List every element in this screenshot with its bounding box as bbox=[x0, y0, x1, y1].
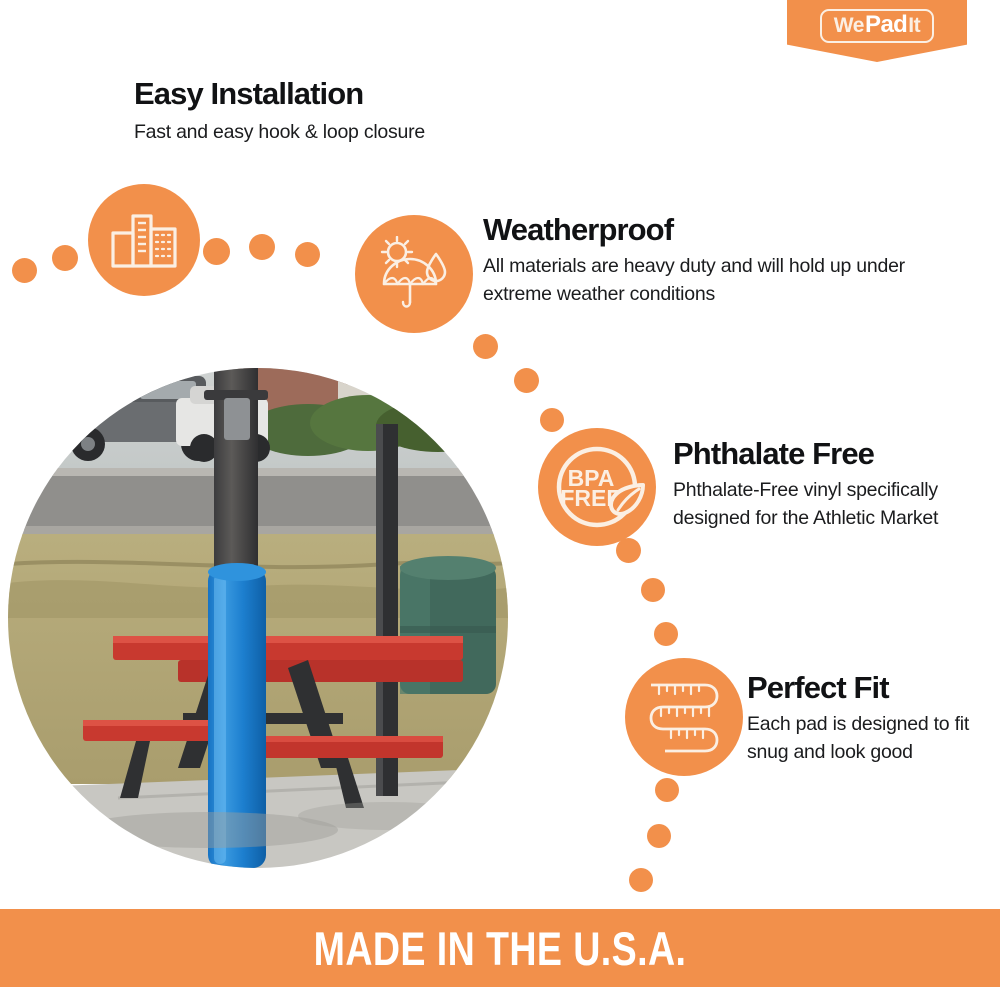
feature-title-phthalate-free: Phthalate Free bbox=[673, 438, 973, 471]
made-in-usa-text: MADE IN THE U.S.A. bbox=[314, 921, 687, 976]
brand-logo-badge: We Pad It bbox=[787, 0, 967, 62]
path-dot bbox=[654, 622, 678, 646]
feature-block-weatherproof: Weatherproof All materials are heavy dut… bbox=[483, 214, 913, 308]
path-dot bbox=[52, 245, 78, 271]
brand-logo-it: It bbox=[908, 15, 920, 36]
feature-desc-weatherproof: All materials are heavy duty and will ho… bbox=[483, 253, 913, 308]
product-feature-infographic: We Pad It Easy Installation Fast and eas… bbox=[0, 0, 1000, 987]
path-dot bbox=[12, 258, 37, 283]
path-dot bbox=[540, 408, 564, 432]
brand-logo-frame: We Pad It bbox=[820, 9, 935, 43]
feature-block-phthalate-free: Phthalate Free Phthalate-Free vinyl spec… bbox=[673, 438, 973, 532]
made-in-usa-banner: MADE IN THE U.S.A. bbox=[0, 909, 1000, 987]
path-dot bbox=[655, 778, 679, 802]
measuring-tape-icon bbox=[625, 658, 743, 776]
path-dot bbox=[641, 578, 665, 602]
path-dot bbox=[616, 538, 641, 563]
feature-title-weatherproof: Weatherproof bbox=[483, 214, 913, 247]
path-dot bbox=[629, 868, 653, 892]
product-photo bbox=[8, 368, 508, 868]
path-dot bbox=[647, 824, 671, 848]
sun-umbrella-raindrop-icon bbox=[355, 215, 473, 333]
feature-desc-perfect-fit: Each pad is designed to fit snug and loo… bbox=[747, 711, 992, 766]
feature-desc-phthalate-free: Phthalate-Free vinyl specifically design… bbox=[673, 477, 973, 532]
buildings-icon bbox=[88, 184, 200, 296]
feature-block-easy-installation: Easy Installation Fast and easy hook & l… bbox=[134, 78, 425, 147]
feature-title-easy-installation: Easy Installation bbox=[134, 78, 425, 111]
path-dot bbox=[249, 234, 275, 260]
feature-block-perfect-fit: Perfect Fit Each pad is designed to fit … bbox=[747, 672, 992, 766]
brand-logo-we: We bbox=[834, 15, 864, 36]
path-dot bbox=[203, 238, 230, 265]
path-dot bbox=[295, 242, 320, 267]
feature-desc-easy-installation: Fast and easy hook & loop closure bbox=[134, 119, 425, 147]
path-dot bbox=[514, 368, 539, 393]
bpa-free-leaf-icon: BPA FREE bbox=[538, 428, 656, 546]
feature-title-perfect-fit: Perfect Fit bbox=[747, 672, 992, 705]
path-dot bbox=[473, 334, 498, 359]
brand-logo-pad: Pad bbox=[865, 13, 907, 37]
